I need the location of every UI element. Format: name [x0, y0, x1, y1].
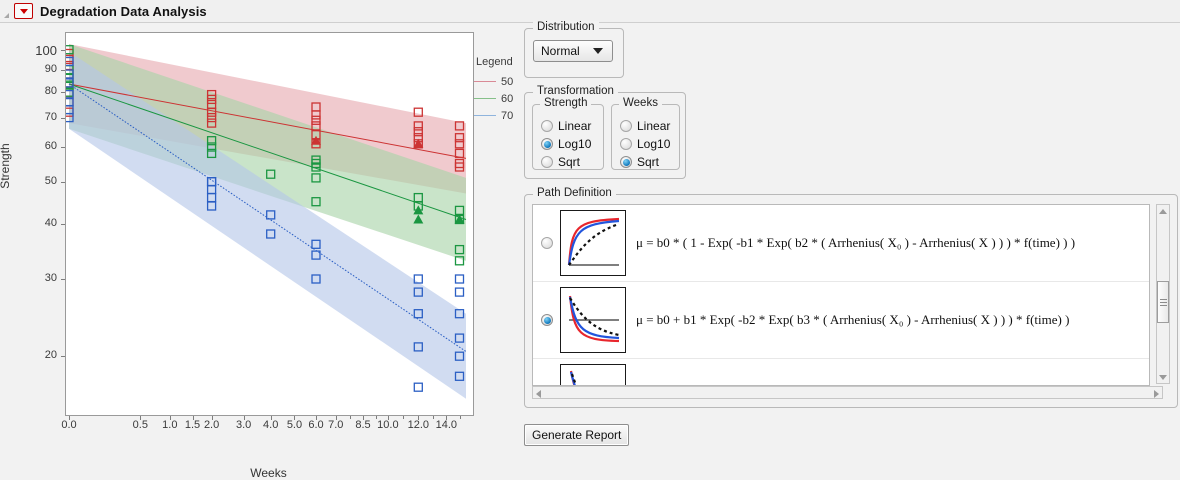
y-tick-label: 60 — [8, 140, 57, 152]
radio-label: Sqrt — [558, 155, 580, 169]
radio-button-icon[interactable] — [541, 138, 553, 150]
path-horizontal-scrollbar[interactable] — [532, 386, 1163, 399]
scroll-down-arrow-icon[interactable] — [1157, 371, 1169, 383]
legend-item-label: 60 — [501, 93, 513, 105]
chevron-down-icon — [593, 48, 603, 54]
grip-icon — [1160, 297, 1167, 308]
radio-button-icon[interactable] — [541, 156, 553, 168]
transformation-group-label: Transformation — [533, 85, 618, 97]
radio-button-icon[interactable] — [620, 120, 632, 132]
page-title: Degradation Data Analysis — [40, 4, 207, 19]
legend-item-label: 70 — [501, 110, 513, 122]
path-definition-row[interactable]: μ = b0 + b1 * Exp( -b2 * Exp( b3 * ( Arr… — [533, 281, 1149, 358]
distribution-group-label: Distribution — [533, 21, 599, 33]
y-tick-label: 80 — [8, 85, 57, 97]
legend-line-swatch — [474, 81, 496, 82]
y-tick-label: 50 — [8, 175, 57, 187]
strength-radio-list: LinearLog10Sqrt — [533, 117, 591, 171]
radio-button-icon[interactable] — [541, 120, 553, 132]
weeks-radio-linear[interactable]: Linear — [620, 117, 670, 135]
x-tick-label: 2.0 — [196, 419, 228, 431]
x-tick-label: 0.5 — [124, 419, 156, 431]
distribution-select[interactable]: Normal — [533, 40, 613, 62]
radio-label: Linear — [558, 119, 591, 133]
path-definition-group-label: Path Definition — [533, 187, 616, 199]
red-triangle-icon[interactable] — [14, 3, 33, 19]
strength-radio-sqrt[interactable]: Sqrt — [541, 153, 591, 171]
degradation-plot-panel: Strength Weeks 2030405060708090100 0.00.… — [8, 26, 500, 451]
window-title-bar: Degradation Data Analysis — [0, 0, 1180, 23]
radio-label: Sqrt — [637, 155, 659, 169]
generate-report-button[interactable]: Generate Report — [524, 424, 629, 446]
distribution-value: Normal — [541, 44, 593, 58]
outline-triangle-icon[interactable] — [4, 8, 9, 18]
y-tick-label: 90 — [8, 63, 57, 75]
path-formula: μ = b0 * ( 1 - Exp( -b1 * Exp( b2 * ( Ar… — [636, 235, 1075, 251]
strength-radio-log10[interactable]: Log10 — [541, 135, 591, 153]
transformation-weeks-group: Weeks LinearLog10Sqrt — [611, 104, 680, 170]
x-tick-label: 10.0 — [372, 419, 404, 431]
path-radio-button-icon[interactable] — [541, 237, 553, 249]
x-tick-label: 14.0 — [430, 419, 462, 431]
decreasing-asymptote-curves-icon[interactable] — [560, 287, 626, 353]
radio-button-icon[interactable] — [620, 156, 632, 168]
transformation-strength-group: Strength LinearLog10Sqrt — [532, 104, 604, 170]
path-vertical-scrollbar[interactable] — [1156, 204, 1170, 384]
x-tick-label: 0.0 — [53, 419, 85, 431]
legend-line-swatch — [474, 98, 496, 99]
path-definition-list[interactable]: μ = b0 * ( 1 - Exp( -b1 * Exp( b2 * ( Ar… — [532, 204, 1150, 386]
increasing-saturating-curves-icon[interactable] — [560, 210, 626, 276]
legend-line-swatch — [474, 115, 496, 116]
radio-label: Log10 — [637, 137, 670, 151]
path-radio-button-icon[interactable] — [541, 314, 553, 326]
scroll-left-arrow-icon[interactable] — [536, 390, 541, 398]
legend-item-label: 50 — [501, 76, 513, 88]
scroll-up-arrow-icon[interactable] — [1157, 205, 1169, 217]
radio-button-icon[interactable] — [620, 138, 632, 150]
path-definition-row[interactable]: μ = b0 * Exp( -b1 * Exp( b2 * ( Arrheniu… — [533, 358, 1149, 386]
y-tick-label: 20 — [8, 349, 57, 361]
path-formula: μ = b0 + b1 * Exp( -b2 * Exp( b3 * ( Arr… — [636, 312, 1069, 328]
path-definition-group: Path Definition μ = b0 * ( 1 - Exp( -b1 … — [524, 194, 1178, 408]
degradation-scatter-plot — [66, 33, 471, 413]
strength-group-label: Strength — [540, 97, 591, 109]
x-axis-title: Weeks — [65, 466, 472, 480]
distribution-group: Distribution Normal — [524, 28, 624, 78]
decreasing-to-zero-curves-icon[interactable] — [560, 364, 626, 386]
y-tick-label: 100 — [8, 43, 57, 58]
plot-area[interactable] — [65, 32, 474, 416]
path-definition-row[interactable]: μ = b0 * ( 1 - Exp( -b1 * Exp( b2 * ( Ar… — [533, 205, 1149, 281]
y-tick-label: 30 — [8, 272, 57, 284]
y-tick-label: 70 — [8, 111, 57, 123]
weeks-radio-sqrt[interactable]: Sqrt — [620, 153, 670, 171]
weeks-radio-log10[interactable]: Log10 — [620, 135, 670, 153]
y-tick-label: 40 — [8, 217, 57, 229]
y-axis-title: Strength — [0, 106, 12, 226]
degradation-analysis-window: Degradation Data Analysis Strength Weeks… — [0, 0, 1180, 461]
weeks-group-label: Weeks — [619, 97, 662, 109]
radio-label: Log10 — [558, 137, 591, 151]
scroll-right-arrow-icon[interactable] — [1154, 390, 1159, 398]
vertical-scroll-thumb[interactable] — [1157, 281, 1169, 323]
transformation-group: Transformation Strength LinearLog10Sqrt … — [524, 92, 686, 179]
strength-radio-linear[interactable]: Linear — [541, 117, 591, 135]
weeks-radio-list: LinearLog10Sqrt — [612, 117, 670, 171]
radio-label: Linear — [637, 119, 670, 133]
